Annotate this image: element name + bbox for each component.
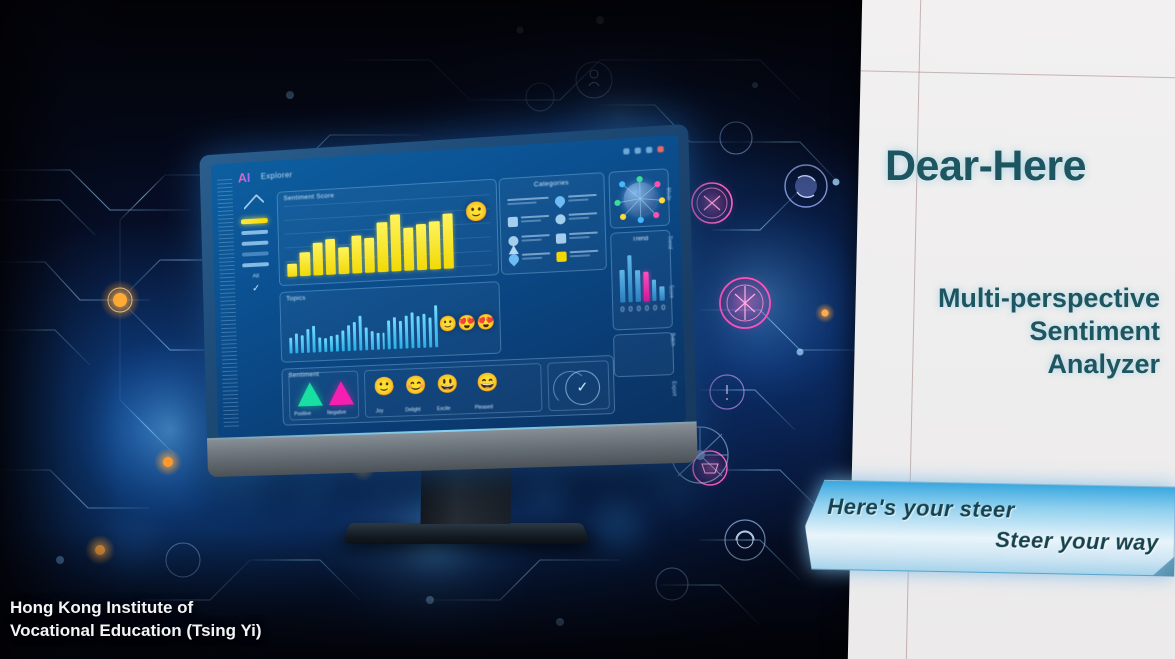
chart-bar: [300, 252, 311, 276]
side-tick-strip: ModeTrendScoreBatchExport: [660, 170, 682, 414]
maximize-icon[interactable]: [635, 147, 641, 154]
distribution-axis-labels: 000000: [620, 305, 665, 314]
chart-bar: [399, 321, 403, 349]
legend-item: [556, 231, 598, 247]
heart-eyes-emoji: 😍: [458, 315, 477, 331]
sentiment-summary-panel: Sentiment Positive Negative 🙂 Joy 😊: [281, 355, 615, 426]
tagline-line-2: Steer your way: [995, 527, 1159, 556]
chart-bar: [416, 224, 427, 271]
tagline-banner: Here's your steer Steer your way: [804, 479, 1175, 576]
check-icon[interactable]: ✓: [239, 283, 274, 296]
legend-item-label: [568, 194, 597, 204]
chart-bar: [388, 321, 392, 349]
chart-bar: [335, 335, 338, 351]
chart-bar: [417, 316, 421, 348]
chart-bar: [411, 312, 415, 348]
distribution-bar-chart: [619, 247, 665, 302]
chart-bar: [295, 333, 298, 353]
secondary-topic-bar-chart: [288, 301, 438, 353]
window-controls[interactable]: [623, 146, 664, 155]
panel-title: Trend: [611, 235, 669, 244]
dashboard-ui: AI Explorer: [211, 135, 686, 438]
chart-bar: [390, 214, 402, 272]
legend-item-label: [522, 252, 551, 262]
chart-bar: [347, 325, 351, 351]
positive-triangle-icon: [297, 382, 323, 407]
axis-tick-label: 0: [653, 305, 657, 312]
axis-tick-label: 0: [620, 307, 624, 314]
side-tick-label: Trend: [666, 236, 673, 250]
topics-panel: Topics 🙂 😍 😍: [279, 281, 501, 363]
chart-bar: [434, 305, 438, 347]
sidebar-nav[interactable]: All ✓: [237, 194, 277, 403]
status-check-box: ✓: [547, 360, 610, 411]
monitor-mockup: AI Explorer: [196, 140, 696, 485]
panel-title: Topics: [286, 295, 306, 303]
side-tick-label: Mode: [665, 188, 672, 201]
highlight-icon: [556, 233, 566, 244]
chart-bar: [364, 238, 375, 273]
legend-item: [509, 252, 551, 268]
face-emoji: 😄: [476, 373, 499, 392]
sidebar-item[interactable]: [241, 230, 268, 235]
chart-bar: [318, 338, 321, 353]
chart-bar: [330, 336, 333, 352]
monitor-stand-neck: [420, 462, 511, 524]
chart-bar: [352, 322, 356, 350]
chart-bar: [341, 330, 344, 351]
chart-bar: [289, 338, 292, 353]
chart-bar: [393, 317, 397, 349]
primary-sentiment-bar-chart: [286, 198, 454, 277]
side-tick-label: Batch: [669, 333, 676, 346]
chevron-up-icon[interactable]: [243, 194, 264, 216]
sidebar-item[interactable]: [242, 251, 269, 256]
panel-title: Sentiment Score: [283, 192, 334, 202]
emotion-faces-box: 🙂 Joy 😊 Delight 😃 Excite 😄 Pleased: [364, 363, 543, 418]
chart-bar: [312, 326, 316, 352]
positive-label: Positive: [294, 411, 311, 418]
face-label: Excite: [437, 406, 451, 412]
chart-bar: [324, 338, 327, 352]
chart-bar: [429, 317, 433, 347]
polarity-indicator-box: Positive Negative: [288, 370, 359, 420]
app-logo: AI: [238, 170, 251, 185]
legend-item: [555, 194, 597, 210]
chart-bar: [376, 332, 379, 349]
face-label: Delight: [405, 407, 421, 414]
minimize-icon[interactable]: [623, 148, 629, 154]
slight-smile-emoji: 🙂: [439, 316, 458, 332]
institution-line-1: Hong Kong Institute of: [10, 597, 430, 620]
categories-legend-panel: Categories: [499, 172, 607, 275]
chart-bar: [382, 333, 385, 350]
chart-bar: [370, 331, 373, 350]
close-icon[interactable]: [657, 146, 663, 153]
restore-icon[interactable]: [646, 147, 652, 154]
sidebar-item[interactable]: [242, 241, 269, 246]
chart-bar: [405, 315, 409, 348]
heart-eyes-smile-emoji: 😍: [477, 315, 496, 331]
chart-bar: [423, 314, 427, 348]
face-emoji: 😃: [436, 374, 459, 393]
chart-bar: [403, 227, 414, 271]
legend-item-label: [507, 197, 549, 207]
chart-bar: [651, 280, 656, 301]
chart-bar: [619, 270, 625, 303]
alert-dot-icon: [556, 251, 566, 262]
chart-bar: [364, 327, 368, 350]
tagline-line-1: Here's your steer: [827, 494, 1015, 524]
chart-bar: [325, 238, 336, 274]
face-emoji: 😊: [404, 376, 427, 395]
side-tick-label: Score: [668, 284, 675, 298]
check-icon: ✓: [576, 378, 588, 396]
legend-item: [507, 197, 549, 213]
axis-tick-label: 0: [629, 306, 633, 313]
dashboard-body: All ✓ Sentiment Score 🙂 Topics: [236, 166, 679, 433]
chart-bar: [377, 222, 389, 273]
institution-line-2: Vocational Education (Tsing Yi): [10, 620, 430, 643]
subtitle-line-2: Sentiment: [855, 315, 1160, 348]
face-label: Pleased: [475, 404, 493, 411]
page-subtitle: Multi-perspective Sentiment Analyzer: [855, 282, 1160, 381]
legend-item-label: [521, 215, 550, 225]
legend-item: [508, 215, 550, 231]
legend-title: Categories: [500, 177, 604, 190]
chart-bar: [306, 329, 310, 353]
background-vignette-left: [0, 0, 120, 659]
chart-bar: [351, 235, 362, 274]
smiley-emoji: 🙂: [464, 202, 488, 222]
chart-bar: [429, 221, 441, 269]
face-label: Joy: [376, 408, 384, 414]
document-icon: [508, 217, 518, 228]
monitor-base: [342, 523, 590, 544]
chart-bar: [627, 255, 633, 302]
chart-bar: [442, 214, 454, 269]
legend-item-label: [570, 250, 599, 260]
chart-bar: [635, 270, 641, 302]
institution-credit: Hong Kong Institute of Vocational Educat…: [10, 597, 430, 643]
negative-triangle-icon: [328, 381, 354, 406]
chart-bar: [312, 243, 323, 276]
chart-icon: [555, 214, 565, 225]
legend-item-label: [521, 234, 550, 244]
chart-bar: [358, 316, 362, 351]
legend-item: [555, 212, 597, 228]
page-title: Dear-Here: [885, 142, 1175, 191]
chart-bar: [287, 264, 297, 277]
legend-item-label: [569, 212, 598, 222]
negative-label: Negative: [327, 410, 346, 417]
chart-bar: [643, 272, 649, 301]
monitor-frame: AI Explorer: [199, 124, 697, 477]
poster-canvas: AI Explorer: [0, 0, 1175, 659]
sidebar-item-active[interactable]: [241, 218, 268, 224]
chart-bar: [301, 335, 304, 353]
side-tick-label: Export: [670, 381, 677, 396]
subtitle-line-3: Analyzer: [855, 348, 1160, 381]
sidebar-footer-label: All: [239, 273, 274, 281]
sentiment-score-panel: Sentiment Score 🙂: [277, 179, 500, 287]
legend-item: [556, 250, 598, 266]
legend-item-label: [569, 231, 598, 241]
chart-bar: [338, 247, 349, 274]
axis-tick-label: 0: [637, 306, 641, 313]
legend-grid: [507, 194, 598, 268]
subtitle-line-1: Multi-perspective: [855, 282, 1160, 315]
droplet-icon: [553, 194, 567, 208]
app-name: Explorer: [261, 170, 293, 181]
sidebar-item[interactable]: [242, 262, 269, 267]
face-emoji: 🙂: [373, 377, 396, 396]
axis-tick-label: 0: [645, 305, 649, 312]
monitor-screen: AI Explorer: [211, 135, 686, 438]
